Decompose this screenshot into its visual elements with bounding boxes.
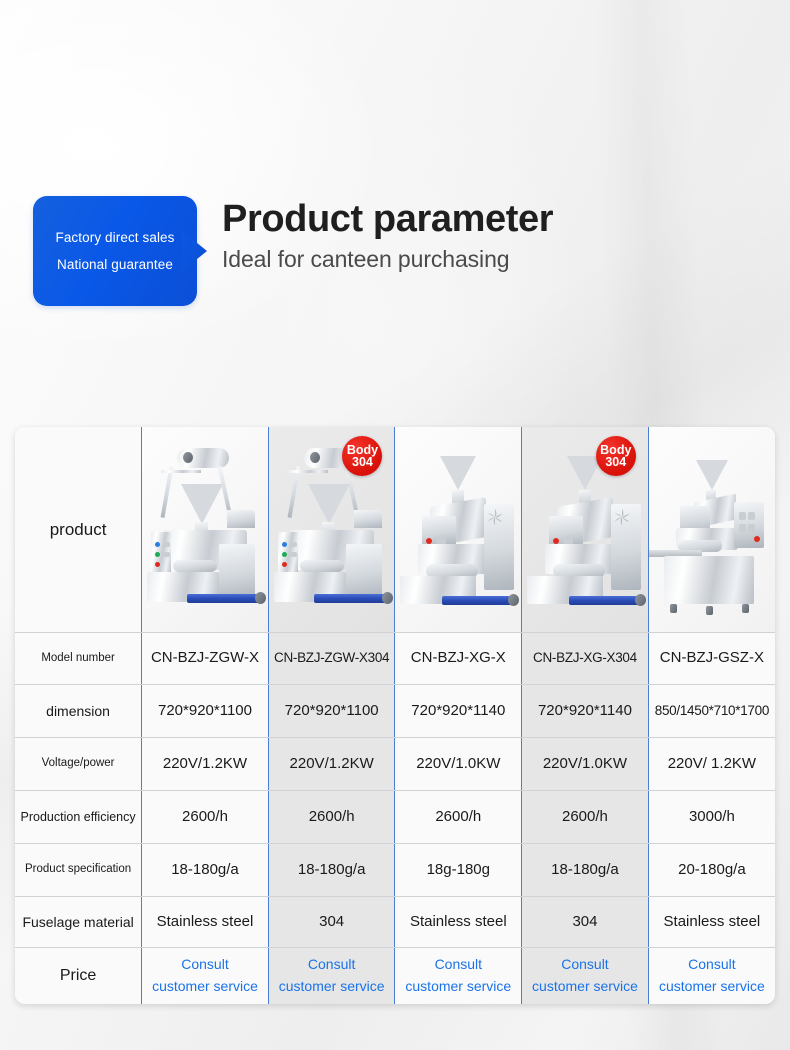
cell-price-4[interactable]: Consult customer service [522, 948, 649, 1004]
cell-dimension-1: 720*920*1100 [142, 685, 269, 738]
value-specification-1: 18-180g/a [142, 855, 268, 886]
value-specification-5: 20-180g/a [649, 855, 775, 886]
value-model-1: CN-BZJ-ZGW-X [142, 643, 268, 674]
value-material-2: 304 [269, 907, 395, 938]
cell-production-4: 2600/h [522, 791, 649, 844]
value-dimension-2: 720*920*1100 [269, 696, 395, 727]
row-label-price: Price [15, 948, 142, 1004]
title-block: Product parameter Ideal for canteen purc… [222, 196, 553, 273]
value-material-5: Stainless steel [649, 907, 775, 938]
page-subtitle: Ideal for canteen purchasing [222, 246, 553, 273]
cell-price-3[interactable]: Consult customer service [395, 948, 522, 1004]
value-dimension-4: 720*920*1140 [522, 696, 648, 727]
value-production-1: 2600/h [142, 802, 268, 833]
spec-table: product [15, 427, 775, 1004]
product-cell-4[interactable]: Body 304 [522, 427, 649, 633]
price-line-2-col4: customer service [522, 978, 648, 1001]
value-voltage-2: 220V/1.2KW [269, 749, 395, 780]
product-cell-5[interactable] [648, 427, 775, 633]
spec-table-container: product [15, 427, 775, 1004]
cell-model-5: CN-BZJ-GSZ-X [648, 633, 775, 685]
value-model-3: CN-BZJ-XG-X [395, 643, 521, 674]
cell-model-3: CN-BZJ-XG-X [395, 633, 522, 685]
cell-specification-5: 20-180g/a [648, 844, 775, 897]
value-dimension-1: 720*920*1100 [142, 696, 268, 727]
price-line-1-col1: Consult [142, 951, 268, 979]
cell-material-5: Stainless steel [648, 897, 775, 948]
value-production-3: 2600/h [395, 802, 521, 833]
value-dimension-5: 850/1450*710*1700 [649, 697, 775, 726]
cell-voltage-4: 220V/1.0KW [522, 738, 649, 791]
row-price: Price Consult customer service Consult c… [15, 948, 775, 1004]
price-line-2-col3: customer service [395, 978, 521, 1001]
cell-production-3: 2600/h [395, 791, 522, 844]
cell-material-3: Stainless steel [395, 897, 522, 948]
value-specification-2: 18-180g/a [269, 855, 395, 886]
cell-specification-1: 18-180g/a [142, 844, 269, 897]
product-photo-2: Body 304 [269, 427, 395, 632]
row-fuselage-material: Fuselage material Stainless steel 304 St… [15, 897, 775, 948]
cell-model-2: CN-BZJ-ZGW-X304 [268, 633, 395, 685]
badge-line-2: 304 [605, 456, 626, 469]
row-production-efficiency: Production efficiency 2600/h 2600/h 2600… [15, 791, 775, 844]
value-voltage-3: 220V/1.0KW [395, 749, 521, 780]
machine-auger-conveyor [143, 444, 267, 620]
price-line-2-col2: customer service [269, 978, 395, 1001]
cell-material-1: Stainless steel [142, 897, 269, 948]
row-label-voltage: Voltage/power [15, 738, 142, 791]
value-model-4: CN-BZJ-XG-X304 [522, 644, 648, 673]
price-line-2-col1: customer service [142, 978, 268, 1001]
cell-dimension-5: 850/1450*710*1700 [648, 685, 775, 738]
cell-dimension-2: 720*920*1100 [268, 685, 395, 738]
price-line-1-col2: Consult [269, 951, 395, 979]
cell-voltage-5: 220V/ 1.2KW [648, 738, 775, 791]
cell-specification-2: 18-180g/a [268, 844, 395, 897]
cell-dimension-4: 720*920*1140 [522, 685, 649, 738]
product-photo-3 [395, 427, 521, 632]
value-model-2: CN-BZJ-ZGW-X304 [269, 644, 395, 673]
cell-production-1: 2600/h [142, 791, 269, 844]
product-photo-4: Body 304 [522, 427, 648, 632]
value-voltage-1: 220V/1.2KW [142, 749, 268, 780]
value-material-1: Stainless steel [142, 907, 268, 938]
row-label-dimension: dimension [15, 685, 142, 738]
cell-model-1: CN-BZJ-ZGW-X [142, 633, 269, 685]
page-header: Factory direct sales National guarantee … [0, 196, 790, 308]
page-title: Product parameter [222, 200, 553, 240]
product-image-row: product [15, 427, 775, 633]
cell-model-4: CN-BZJ-XG-X304 [522, 633, 649, 685]
product-cell-3[interactable] [395, 427, 522, 633]
cell-dimension-3: 720*920*1140 [395, 685, 522, 738]
row-product-specification: Product specification 18-180g/a 18-180g/… [15, 844, 775, 897]
value-model-5: CN-BZJ-GSZ-X [649, 643, 775, 674]
fan-logo-icon [611, 506, 633, 528]
promo-line-2: National guarantee [57, 257, 173, 272]
price-line-1-col3: Consult [395, 951, 521, 979]
cell-voltage-3: 220V/1.0KW [395, 738, 522, 791]
cell-material-2: 304 [268, 897, 395, 948]
product-label-cell: product [15, 427, 142, 633]
value-voltage-5: 220V/ 1.2KW [649, 749, 775, 780]
value-dimension-3: 720*920*1140 [395, 696, 521, 727]
row-label-model: Model number [15, 633, 142, 685]
price-line-2-col5: customer service [649, 978, 775, 1001]
cell-material-4: 304 [522, 897, 649, 948]
row-label-specification: Product specification [15, 844, 142, 897]
badge-line-2: 304 [352, 456, 373, 469]
value-specification-3: 18g-180g [395, 855, 521, 886]
cell-price-2[interactable]: Consult customer service [268, 948, 395, 1004]
value-production-4: 2600/h [522, 802, 648, 833]
value-material-4: 304 [522, 907, 648, 938]
cell-voltage-2: 220V/1.2KW [268, 738, 395, 791]
cell-voltage-1: 220V/1.2KW [142, 738, 269, 791]
value-specification-4: 18-180g/a [522, 855, 648, 886]
cell-specification-3: 18g-180g [395, 844, 522, 897]
row-model-number: Model number CN-BZJ-ZGW-X CN-BZJ-ZGW-X30… [15, 633, 775, 685]
value-material-3: Stainless steel [395, 907, 521, 938]
promo-line-1: Factory direct sales [55, 230, 174, 245]
row-label-production: Production efficiency [15, 791, 142, 844]
product-cell-1[interactable] [142, 427, 269, 633]
fan-logo-icon [484, 506, 506, 528]
value-production-2: 2600/h [269, 802, 395, 833]
cell-specification-4: 18-180g/a [522, 844, 649, 897]
product-photo-5 [649, 427, 775, 632]
cell-production-5: 3000/h [648, 791, 775, 844]
cell-production-2: 2600/h [268, 791, 395, 844]
row-dimension: dimension 720*920*1100 720*920*1100 720*… [15, 685, 775, 738]
product-photo-1 [142, 427, 268, 632]
machine-funnel-fan [396, 444, 520, 620]
cell-price-1[interactable]: Consult customer service [142, 948, 269, 1004]
product-cell-2[interactable]: Body 304 [268, 427, 395, 633]
price-line-1-col4: Consult [522, 951, 648, 979]
value-voltage-4: 220V/1.0KW [522, 749, 648, 780]
body-304-badge: Body 304 [596, 436, 636, 476]
machine-cabinet-caster [650, 444, 774, 620]
value-production-5: 3000/h [649, 802, 775, 833]
promo-tag: Factory direct sales National guarantee [33, 196, 197, 306]
row-voltage-power: Voltage/power 220V/1.2KW 220V/1.2KW 220V… [15, 738, 775, 791]
cell-price-5[interactable]: Consult customer service [648, 948, 775, 1004]
row-label-material: Fuselage material [15, 897, 142, 948]
price-line-1-col5: Consult [649, 951, 775, 979]
